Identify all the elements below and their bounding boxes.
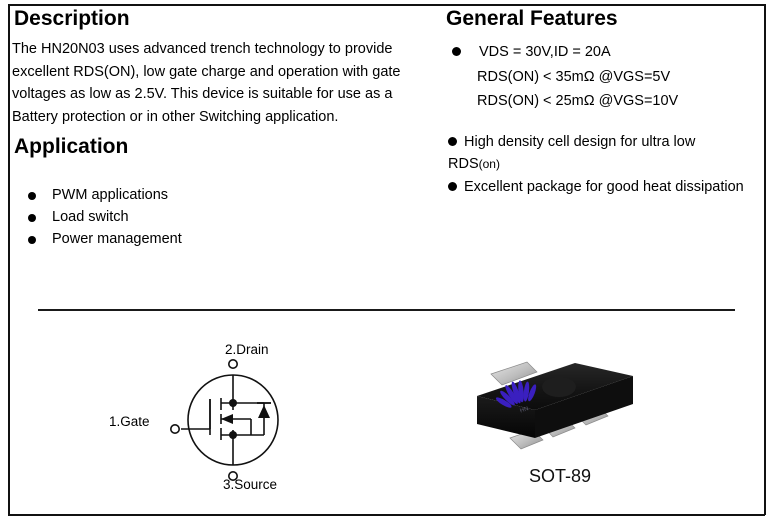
page-border-left	[8, 4, 10, 515]
feature-rds-on-suffix: (on)	[479, 157, 500, 171]
feature-excellent-package-label: Excellent package for good heat dissipat…	[464, 179, 744, 195]
feature-excellent-package: Excellent package for good heat dissipat…	[448, 176, 748, 198]
symbol-pin2-terminal	[229, 360, 237, 368]
list-item-label: Power management	[52, 231, 182, 247]
bullet-icon	[28, 214, 36, 222]
sot89-package-figure: HN	[455, 352, 665, 472]
sot89-package-svg: HN	[455, 352, 665, 472]
description-body-text: The HN20N03 uses advanced trench technol…	[12, 38, 412, 128]
application-list: PWM applications Load switch Power manag…	[26, 184, 326, 250]
symbol-pin1-gate-label: 1.Gate	[109, 414, 150, 429]
list-item-label: Load switch	[52, 209, 129, 225]
symbol-pin2-drain-label: 2.Drain	[225, 342, 269, 357]
list-item: Power management	[26, 228, 326, 250]
symbol-junction-dot-source	[229, 431, 237, 439]
description-heading: Description	[14, 8, 130, 29]
feature-rds-on-10v: RDS(ON) < 25mΩ @VGS=10V	[477, 93, 678, 109]
symbol-channel-arrow	[221, 414, 233, 424]
list-item-label: PWM applications	[52, 187, 168, 203]
symbol-body-diode-arrow	[258, 405, 270, 418]
symbol-pin1-terminal	[171, 425, 179, 433]
bullet-icon	[448, 137, 457, 146]
section-divider	[38, 309, 735, 311]
page-border-bottom	[8, 514, 765, 516]
feature-rds-on-5v: RDS(ON) < 35mΩ @VGS=5V	[477, 69, 670, 85]
mosfet-symbol-figure: 2.Drain 3.Source 1.Gate	[105, 342, 335, 497]
datasheet-page: Description The HN20N03 uses advanced tr…	[0, 0, 772, 521]
package-name-label: SOT-89	[455, 466, 665, 487]
page-border-right	[764, 4, 766, 515]
bullet-icon	[452, 47, 461, 56]
bullet-icon	[28, 192, 36, 200]
feature-high-density: High density cell design for ultra low R…	[448, 131, 748, 175]
application-heading: Application	[14, 136, 128, 157]
list-item: PWM applications	[26, 184, 326, 206]
feature-high-density-label: High density cell design for ultra low	[464, 134, 695, 150]
bullet-icon	[28, 236, 36, 244]
feature-ratings-row: VDS = 30V,ID = 20A	[452, 42, 611, 62]
feature-rds-on-prefix: RDS	[448, 156, 479, 172]
package-mounting-hole-rim	[542, 377, 576, 397]
feature-ratings-label: VDS = 30V,ID = 20A	[479, 44, 611, 60]
bullet-icon	[448, 182, 457, 191]
general-features-heading: General Features	[446, 8, 618, 29]
symbol-junction-dot-drain	[229, 399, 237, 407]
page-border-top	[8, 4, 765, 6]
list-item: Load switch	[26, 206, 326, 228]
symbol-pin3-source-label: 3.Source	[223, 477, 277, 492]
